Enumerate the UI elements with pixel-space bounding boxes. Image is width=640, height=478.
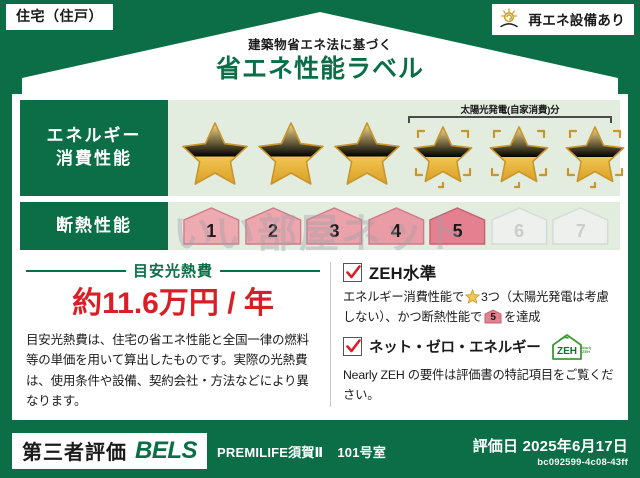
net-zero-block: ネット・ゼロ・エネルギー ZEH Nearly ZEH Nearly ZEH の… [343,332,616,406]
column-divider [330,262,331,407]
document-id: bc092599-4c08-43ff [473,457,628,468]
room-number: 101号室 [337,445,386,460]
insulation-performance-label: 断熱性能 [20,202,168,250]
utility-cost-heading: 目安光熱費 [26,260,320,281]
star-icon-solar [558,117,632,191]
evaluation-date: 評価日 2025年6月17日 [473,435,628,456]
energy-performance-row: エネルギー 消費性能 太陽光発電(自家消費)分 [20,100,620,196]
insulation-level-5-label: 5 [453,221,463,246]
star-icon [330,117,404,191]
zeh-standard-body: エネルギー消費性能で 3つ（太陽光発電は考慮しない）、かつ断熱性能で 5 を達成 [343,288,616,328]
solar-generation-note: 太陽光発電(自家消費)分 [406,102,614,116]
insulation-level-3-label: 3 [329,221,339,246]
energy-label-line2: 消費性能 [47,148,142,171]
star-icon [178,117,252,191]
svg-text:ZEH: ZEH [582,349,590,354]
insulation-level-1: 1 [182,206,241,246]
insulation-level-6: 6 [490,206,549,246]
header-subtitle: 建築物省エネ法に基づく [0,38,640,53]
property-name: PREMILIFE須賀Ⅱ [217,445,323,460]
insulation-level-2-label: 2 [268,221,278,246]
insulation-level-7: 7 [551,206,610,246]
star-icon [254,117,328,191]
evaluation-info: 評価日 2025年6月17日 bc092599-4c08-43ff [473,435,628,468]
zeh-panel: ZEH水準 エネルギー消費性能で 3つ（太陽光発電は考慮しない）、かつ断熱性能で… [335,256,620,411]
building-type-badge: 住宅（住戸） [6,4,113,30]
insulation-scale: 1 2 3 [182,206,610,246]
utility-cost-value: 約11.6万円 / 年 [26,287,320,320]
bels-logo: 第三者評価 BELS [12,433,207,469]
heading-rule-left [26,270,126,272]
zeh-standard-body-pre: エネルギー消費性能で [343,290,464,304]
check-icon [345,264,362,281]
energy-performance-body: 太陽光発電(自家消費)分 [168,100,620,196]
star-icon [465,289,480,304]
zeh-standard-header: ZEH水準 [343,260,616,284]
net-zero-title: ネット・ゼロ・エネルギー [369,336,541,357]
star-icon-solar [406,117,480,191]
label-header: 建築物省エネ法に基づく 省エネ性能ラベル [0,38,640,84]
insulation-level-6-label: 6 [514,221,524,246]
third-party-evaluation-label: 第三者評価 [22,436,127,465]
insulation-level-badge: 5 [484,309,502,324]
svg-text:ZEH: ZEH [557,346,577,357]
insulation-level-3: 3 [305,206,364,246]
insulation-level-2: 2 [244,206,303,246]
star-icon-solar [482,117,556,191]
label-footer: 第三者評価 BELS PREMILIFE須賀Ⅱ101号室 評価日 2025年6月… [0,424,640,478]
building-type-label: 住宅（住戸） [16,8,103,24]
energy-label-card: 住宅（住戸） 再エネ設備あり 建築物省エネ法に基づく 省エネ性能ラベル [0,0,640,478]
check-icon [345,338,362,355]
insulation-level-5-achieved: 5 [428,206,487,246]
zeh-logo-icon: ZEH Nearly ZEH [549,332,591,362]
renewable-energy-badge: 再エネ設備あり [492,4,634,35]
insulation-level-7-label: 7 [576,221,586,246]
heading-rule-right [220,270,320,272]
label-body: エネルギー 消費性能 太陽光発電(自家消費)分 [12,94,628,420]
insulation-performance-body: 1 2 3 [168,202,620,250]
net-zero-checkbox[interactable] [343,337,362,356]
utility-cost-title: 目安光熱費 [133,260,213,281]
renewable-energy-label: 再エネ設備あり [528,9,625,29]
zeh-standard-body-post: を達成 [504,310,540,324]
evaluation-date-value: 2025年6月17日 [523,438,628,455]
insulation-level-4: 4 [367,206,426,246]
zeh-standard-title: ZEH水準 [369,260,437,284]
zeh-standard-block: ZEH水準 エネルギー消費性能で 3つ（太陽光発電は考慮しない）、かつ断熱性能で… [343,260,616,328]
page-title: 省エネ性能ラベル [0,56,640,84]
net-zero-body: Nearly ZEH の要件は評価書の特記項目をご覧ください。 [343,366,616,406]
energy-performance-label: エネルギー 消費性能 [20,100,168,196]
bels-wordmark: BELS [135,437,197,465]
details-section: 目安光熱費 約11.6万円 / 年 目安光熱費は、住宅の省エネ性能と全国一律の燃… [20,256,620,411]
property-info: PREMILIFE須賀Ⅱ101号室 [217,442,386,461]
insulation-level-badge-label: 5 [484,309,502,324]
utility-cost-panel: 目安光熱費 約11.6万円 / 年 目安光熱費は、住宅の省エネ性能と全国一律の燃… [20,256,326,411]
utility-cost-note: 目安光熱費は、住宅の省エネ性能と全国一律の燃料等の単価を用いて算出したものです。… [26,330,320,411]
energy-star-rating [178,116,614,192]
zeh-standard-checkbox[interactable] [343,263,362,282]
insulation-level-1-label: 1 [206,221,216,246]
insulation-performance-row: 断熱性能 1 2 [20,202,620,250]
net-zero-header: ネット・ゼロ・エネルギー ZEH Nearly ZEH [343,332,616,362]
insulation-level-4-label: 4 [391,221,401,246]
energy-label-line1: エネルギー [47,125,142,148]
evaluation-date-label: 評価日 [473,438,519,455]
sun-icon [499,8,523,30]
